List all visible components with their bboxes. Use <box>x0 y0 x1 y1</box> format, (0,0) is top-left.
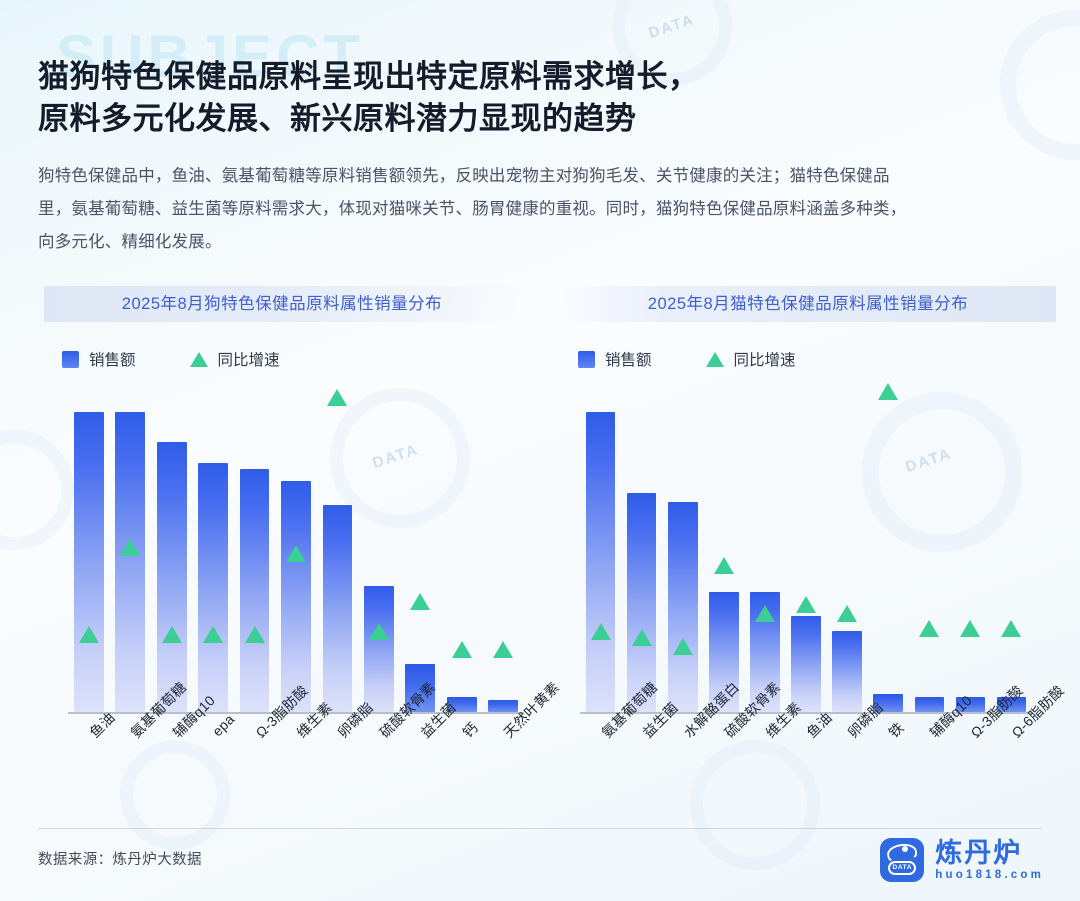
cat-growth-marker-icon[interactable] <box>755 605 775 622</box>
dog-bar-group[interactable] <box>234 384 275 712</box>
dog-bar-group[interactable] <box>358 384 399 712</box>
dog-bar-group[interactable] <box>109 384 150 712</box>
dog-bar-group[interactable] <box>68 384 109 712</box>
cat-growth-marker-icon[interactable] <box>919 620 939 637</box>
dog-chart-title: 2025年8月狗特色保健品原料属性销量分布 <box>44 286 520 322</box>
sales-legend-swatch-icon <box>578 351 595 368</box>
cat-growth-marker-icon[interactable] <box>591 623 611 640</box>
dog-growth-marker-icon[interactable] <box>162 626 182 643</box>
dog-growth-marker-icon[interactable] <box>245 626 265 643</box>
dog-chart-legend: 销售额 同比增速 <box>62 348 520 370</box>
dog-bar[interactable] <box>488 700 518 712</box>
dog-bar[interactable] <box>240 469 270 712</box>
cat-bar-group[interactable] <box>621 384 662 712</box>
dog-growth-marker-icon[interactable] <box>493 641 513 658</box>
dog-bar-group[interactable] <box>275 384 316 712</box>
cat-bar[interactable] <box>832 631 862 712</box>
cat-chart-plot: 氨基葡萄糖益生菌水解酪蛋白硫酸软骨素维生素鱼油卵磷脂铁辅酶q10Ω-3脂肪酸Ω-… <box>580 384 1032 714</box>
cat-growth-marker-icon[interactable] <box>1001 620 1021 637</box>
dog-growth-marker-icon[interactable] <box>203 626 223 643</box>
dog-bar[interactable] <box>198 463 228 712</box>
dog-bar[interactable] <box>323 505 353 712</box>
cat-bar[interactable] <box>627 493 657 712</box>
dog-bar-group[interactable] <box>483 384 524 712</box>
dog-bar-group[interactable] <box>317 384 358 712</box>
growth-legend-label: 同比增速 <box>734 348 796 370</box>
dog-growth-marker-icon[interactable] <box>452 641 472 658</box>
dog-bar-group[interactable] <box>441 384 482 712</box>
dog-bar[interactable] <box>364 586 394 712</box>
dog-chart-bars <box>68 384 524 712</box>
cat-growth-marker-icon[interactable] <box>673 638 693 655</box>
dog-chart-x-axis-labels: 鱼油氨基葡萄糖辅酶q10epaΩ-3脂肪酸维生素卵磷脂硫酸软骨素益生菌钙天然叶黄… <box>68 718 524 838</box>
brand-text: 炼丹炉 huo1818.com <box>935 839 1044 881</box>
cat-chart-x-axis-labels: 氨基葡萄糖益生菌水解酪蛋白硫酸软骨素维生素鱼油卵磷脂铁辅酶q10Ω-3脂肪酸Ω-… <box>580 718 1032 838</box>
decorative-ring-icon <box>1000 10 1080 160</box>
cat-bar-group[interactable] <box>868 384 909 712</box>
footer-divider <box>38 828 1042 829</box>
dog-growth-marker-icon[interactable] <box>79 626 99 643</box>
dantanlu-logo-icon: DATA <box>880 838 924 882</box>
dog-growth-marker-icon[interactable] <box>327 389 347 406</box>
sales-legend-label: 销售额 <box>89 348 136 370</box>
cat-growth-marker-icon[interactable] <box>837 605 857 622</box>
brand-logo: DATA 炼丹炉 huo1818.com <box>880 838 1044 882</box>
dog-chart-plot: 鱼油氨基葡萄糖辅酶q10epaΩ-3脂肪酸维生素卵磷脂硫酸软骨素益生菌钙天然叶黄… <box>68 384 524 714</box>
cat-x-axis-label: 铁 <box>884 718 908 742</box>
cat-bar-group[interactable] <box>950 384 991 712</box>
brand-url: huo1818.com <box>935 869 1044 881</box>
dog-x-axis-label: epa <box>209 711 237 739</box>
cat-growth-marker-icon[interactable] <box>796 596 816 613</box>
cat-growth-marker-icon[interactable] <box>960 620 980 637</box>
growth-legend-triangle-icon <box>706 352 724 367</box>
dog-chart-panel: 2025年8月狗特色保健品原料属性销量分布 销售额 同比增速 鱼油氨基葡萄糖辅酶… <box>0 286 540 714</box>
dog-growth-marker-icon[interactable] <box>120 539 140 556</box>
dog-bar[interactable] <box>281 481 311 712</box>
sales-legend-swatch-icon <box>62 351 79 368</box>
cat-bar-group[interactable] <box>909 384 950 712</box>
brand-name: 炼丹炉 <box>935 839 1044 867</box>
cat-growth-marker-icon[interactable] <box>714 557 734 574</box>
cat-bar-group[interactable] <box>744 384 785 712</box>
dog-bar-group[interactable] <box>192 384 233 712</box>
cat-bar-group[interactable] <box>580 384 621 712</box>
dog-bar[interactable] <box>157 442 187 712</box>
cat-chart-panel: 2025年8月猫特色保健品原料属性销量分布 销售额 同比增速 氨基葡萄糖益生菌水… <box>540 286 1080 714</box>
page-title-line-1: 猫狗特色保健品原料呈现出特定原料需求增长， <box>38 56 938 98</box>
cat-bar-group[interactable] <box>662 384 703 712</box>
dog-x-axis-label: 钙 <box>458 718 482 742</box>
cat-bar-group[interactable] <box>991 384 1032 712</box>
dog-growth-marker-icon[interactable] <box>410 593 430 610</box>
cat-chart-bars <box>580 384 1032 712</box>
cat-bar[interactable] <box>915 697 945 712</box>
cat-bar-group[interactable] <box>703 384 744 712</box>
data-source-note: 数据来源：炼丹炉大数据 <box>38 848 202 869</box>
cat-bar-group[interactable] <box>827 384 868 712</box>
cat-chart-title: 2025年8月猫特色保健品原料属性销量分布 <box>560 286 1056 322</box>
growth-legend-label: 同比增速 <box>218 348 280 370</box>
dog-bar[interactable] <box>74 412 104 712</box>
dog-bar[interactable] <box>115 412 145 712</box>
cat-bar[interactable] <box>586 412 616 712</box>
cat-bar-group[interactable] <box>785 384 826 712</box>
dog-growth-marker-icon[interactable] <box>286 545 306 562</box>
dog-bar-group[interactable] <box>151 384 192 712</box>
logo-data-pill: DATA <box>888 861 916 875</box>
cat-chart-legend: 销售额 同比增速 <box>578 348 1056 370</box>
cat-bar[interactable] <box>668 502 698 712</box>
cat-bar[interactable] <box>791 616 821 712</box>
page-summary-paragraph: 狗特色保健品中，鱼油、氨基葡萄糖等原料销售额领先，反映出宠物主对狗狗毛发、关节健… <box>38 160 918 259</box>
page-title: 猫狗特色保健品原料呈现出特定原料需求增长， 原料多元化发展、新兴原料潜力显现的趋… <box>38 56 938 140</box>
page-title-line-2: 原料多元化发展、新兴原料潜力显现的趋势 <box>38 98 938 140</box>
growth-legend-triangle-icon <box>190 352 208 367</box>
dog-growth-marker-icon[interactable] <box>369 623 389 640</box>
page-header: 猫狗特色保健品原料呈现出特定原料需求增长， 原料多元化发展、新兴原料潜力显现的趋… <box>38 56 938 259</box>
dog-bar-group[interactable] <box>400 384 441 712</box>
data-watermark: DATA <box>647 11 697 42</box>
charts-container: 2025年8月狗特色保健品原料属性销量分布 销售额 同比增速 鱼油氨基葡萄糖辅酶… <box>0 286 1080 714</box>
cat-growth-marker-icon[interactable] <box>632 629 652 646</box>
cat-growth-marker-icon[interactable] <box>878 383 898 400</box>
sales-legend-label: 销售额 <box>605 348 652 370</box>
